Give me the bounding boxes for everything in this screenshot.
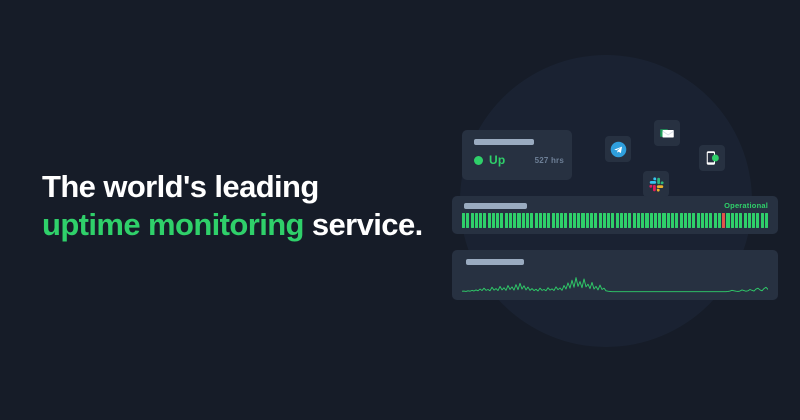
- uptime-bar[interactable]: [718, 213, 721, 228]
- uptime-bar[interactable]: [680, 213, 683, 228]
- uptime-bar[interactable]: [692, 213, 695, 228]
- uptime-bar[interactable]: [466, 213, 469, 228]
- uptime-history-card[interactable]: Operational: [452, 196, 778, 234]
- monitor-name-placeholder: [474, 139, 534, 145]
- uptime-bar[interactable]: [620, 213, 623, 228]
- uptime-bar[interactable]: [475, 213, 478, 228]
- uptime-bar[interactable]: [748, 213, 751, 228]
- uptime-bar[interactable]: [590, 213, 593, 228]
- uptime-bar[interactable]: [765, 213, 768, 228]
- hero-banner: The world's leading uptime monitoring se…: [0, 0, 800, 420]
- uptime-bar[interactable]: [744, 213, 747, 228]
- integration-tile-telegram[interactable]: [605, 136, 631, 162]
- uptime-bar[interactable]: [701, 213, 704, 228]
- uptime-bar[interactable]: [739, 213, 742, 228]
- slack-icon: [648, 176, 665, 193]
- uptime-bar[interactable]: [535, 213, 538, 228]
- integration-tile-slack[interactable]: [643, 171, 669, 197]
- uptime-bar[interactable]: [539, 213, 542, 228]
- uptime-bar[interactable]: [530, 213, 533, 228]
- uptime-bar[interactable]: [581, 213, 584, 228]
- status-row: Up 527 hrs: [474, 153, 564, 167]
- headline-line-2: uptime monitoring service.: [42, 206, 442, 244]
- uptime-bar[interactable]: [573, 213, 576, 228]
- uptime-bar[interactable]: [645, 213, 648, 228]
- integration-tile-sms[interactable]: [699, 145, 725, 171]
- operational-status-label: Operational: [724, 201, 768, 210]
- response-time-chart: [462, 270, 768, 294]
- uptime-bar[interactable]: [526, 213, 529, 228]
- uptime-bar-track[interactable]: [462, 213, 768, 228]
- uptime-bar[interactable]: [483, 213, 486, 228]
- uptime-bar[interactable]: [650, 213, 653, 228]
- status-badge: Up: [489, 153, 505, 167]
- uptime-bar[interactable]: [513, 213, 516, 228]
- uptime-bar[interactable]: [500, 213, 503, 228]
- monitor-name-placeholder: [466, 259, 524, 265]
- headline-rest: service.: [304, 207, 423, 242]
- uptime-bar[interactable]: [658, 213, 661, 228]
- uptime-bar[interactable]: [603, 213, 606, 228]
- uptime-bar[interactable]: [628, 213, 631, 228]
- uptime-bar[interactable]: [624, 213, 627, 228]
- uptime-bar[interactable]: [564, 213, 567, 228]
- uptime-bar[interactable]: [671, 213, 674, 228]
- uptime-bar[interactable]: [522, 213, 525, 228]
- uptime-bar[interactable]: [667, 213, 670, 228]
- uptime-bar[interactable]: [556, 213, 559, 228]
- uptime-bar[interactable]: [709, 213, 712, 228]
- headline-accent: uptime monitoring: [42, 207, 304, 242]
- uptime-bar[interactable]: [722, 213, 725, 228]
- uptime-bar[interactable]: [479, 213, 482, 228]
- uptime-bar[interactable]: [560, 213, 563, 228]
- monitor-status-card[interactable]: Up 527 hrs: [462, 130, 572, 180]
- uptime-bar[interactable]: [471, 213, 474, 228]
- uptime-bar[interactable]: [731, 213, 734, 228]
- uptime-bar[interactable]: [735, 213, 738, 228]
- uptime-bar[interactable]: [675, 213, 678, 228]
- envelope-icon: [658, 124, 676, 142]
- status-duration: 527 hrs: [535, 156, 564, 165]
- uptime-bar[interactable]: [492, 213, 495, 228]
- page-title: The world's leading uptime monitoring se…: [42, 168, 442, 244]
- uptime-bar[interactable]: [547, 213, 550, 228]
- monitor-name-placeholder: [464, 203, 527, 209]
- status-dot-icon: [474, 156, 483, 165]
- uptime-bar[interactable]: [761, 213, 764, 228]
- uptime-bar[interactable]: [607, 213, 610, 228]
- uptime-bar[interactable]: [552, 213, 555, 228]
- uptime-bar[interactable]: [569, 213, 572, 228]
- mobile-push-icon: [703, 149, 721, 167]
- response-time-chart-card[interactable]: [452, 250, 778, 300]
- telegram-icon: [610, 141, 627, 158]
- uptime-bar[interactable]: [633, 213, 636, 228]
- integration-tile-email[interactable]: [654, 120, 680, 146]
- uptime-bar[interactable]: [509, 213, 512, 228]
- uptime-bar[interactable]: [705, 213, 708, 228]
- uptime-bar[interactable]: [688, 213, 691, 228]
- uptime-bar[interactable]: [616, 213, 619, 228]
- uptime-bar[interactable]: [756, 213, 759, 228]
- uptime-bar[interactable]: [517, 213, 520, 228]
- uptime-bar[interactable]: [462, 213, 465, 228]
- headline-line-1: The world's leading: [42, 168, 442, 206]
- uptime-bar[interactable]: [577, 213, 580, 228]
- uptime-bar[interactable]: [496, 213, 499, 228]
- uptime-bar[interactable]: [637, 213, 640, 228]
- uptime-bar[interactable]: [714, 213, 717, 228]
- uptime-bar[interactable]: [726, 213, 729, 228]
- uptime-bar[interactable]: [752, 213, 755, 228]
- uptime-bar[interactable]: [594, 213, 597, 228]
- uptime-bar[interactable]: [599, 213, 602, 228]
- uptime-bar[interactable]: [641, 213, 644, 228]
- uptime-bar[interactable]: [697, 213, 700, 228]
- uptime-bar[interactable]: [654, 213, 657, 228]
- uptime-bar[interactable]: [611, 213, 614, 228]
- uptime-bar[interactable]: [586, 213, 589, 228]
- uptime-bar[interactable]: [505, 213, 508, 228]
- response-time-line: [462, 270, 768, 294]
- uptime-bar[interactable]: [543, 213, 546, 228]
- uptime-bar[interactable]: [662, 213, 665, 228]
- uptime-bar[interactable]: [488, 213, 491, 228]
- uptime-bar[interactable]: [684, 213, 687, 228]
